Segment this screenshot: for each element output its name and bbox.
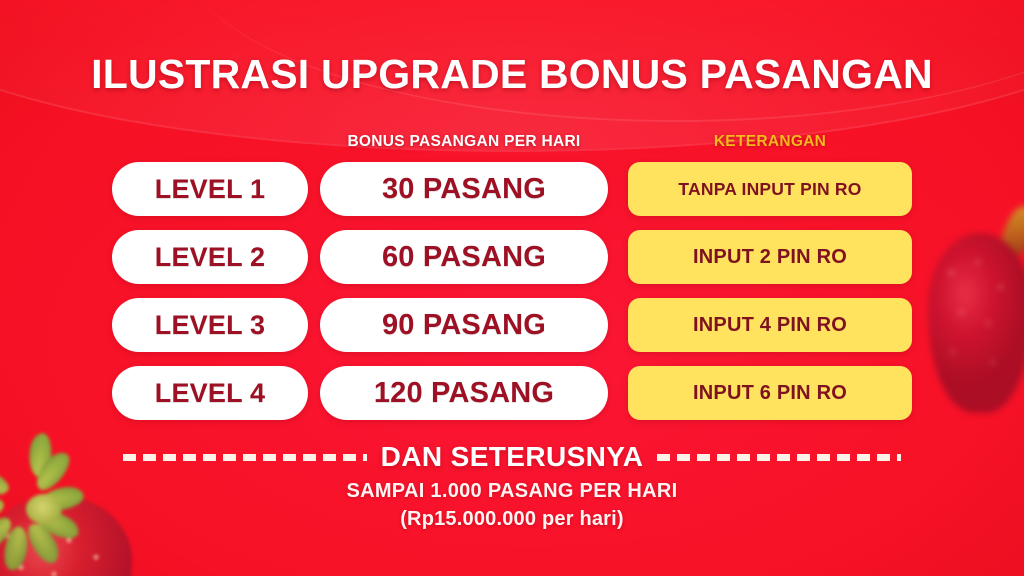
bonus-value: 90 PASANG <box>382 309 546 342</box>
continuation-line: DAN SETERUSNYA <box>0 440 1024 474</box>
level-pill: LEVEL 4 <box>112 366 308 420</box>
table-row: LEVEL 3 90 PASANG INPUT 4 PIN RO <box>112 298 912 352</box>
table-row: LEVEL 1 30 PASANG TANPA INPUT PIN RO <box>112 162 912 216</box>
bonus-pill: 90 PASANG <box>320 298 608 352</box>
bonus-value: 60 PASANG <box>382 241 546 274</box>
note-pill: TANPA INPUT PIN RO <box>628 162 912 216</box>
promo-slide: ILUSTRASI UPGRADE BONUS PASANGAN BONUS P… <box>0 0 1024 576</box>
dashed-rule-left-icon <box>123 454 367 461</box>
column-headers: BONUS PASANGAN PER HARI KETERANGAN <box>112 131 912 153</box>
amount-label: (Rp15.000.000 per hari) <box>0 508 1024 531</box>
column-header-keterangan: KETERANGAN <box>628 131 912 153</box>
continuation-label: DAN SETERUSNYA <box>381 440 644 474</box>
strawberry-right-icon <box>922 205 1024 420</box>
level-label: LEVEL 3 <box>155 310 265 341</box>
footer: DAN SETERUSNYA SAMPAI 1.000 PASANG PER H… <box>0 440 1024 531</box>
level-label: LEVEL 1 <box>155 174 265 205</box>
strawberry-right-seeds <box>928 233 1024 413</box>
note-value: TANPA INPUT PIN RO <box>678 179 861 200</box>
limit-label: SAMPAI 1.000 PASANG PER HARI <box>0 480 1024 503</box>
note-value: INPUT 2 PIN RO <box>693 246 847 269</box>
bonus-pill: 60 PASANG <box>320 230 608 284</box>
level-pill: LEVEL 2 <box>112 230 308 284</box>
bonus-value: 120 PASANG <box>374 377 554 410</box>
level-label: LEVEL 2 <box>155 242 265 273</box>
page-title: ILUSTRASI UPGRADE BONUS PASANGAN <box>0 54 1024 95</box>
level-pill: LEVEL 3 <box>112 298 308 352</box>
levels-table: LEVEL 1 30 PASANG TANPA INPUT PIN RO LEV… <box>112 162 912 420</box>
level-label: LEVEL 4 <box>155 378 265 409</box>
column-header-bonus: BONUS PASANGAN PER HARI <box>320 131 608 153</box>
note-value: INPUT 6 PIN RO <box>693 382 847 405</box>
bonus-pill: 120 PASANG <box>320 366 608 420</box>
note-value: INPUT 4 PIN RO <box>693 314 847 337</box>
bonus-pill: 30 PASANG <box>320 162 608 216</box>
note-pill: INPUT 4 PIN RO <box>628 298 912 352</box>
table-row: LEVEL 2 60 PASANG INPUT 2 PIN RO <box>112 230 912 284</box>
note-pill: INPUT 6 PIN RO <box>628 366 912 420</box>
note-pill: INPUT 2 PIN RO <box>628 230 912 284</box>
dashed-rule-right-icon <box>657 454 901 461</box>
bonus-value: 30 PASANG <box>382 173 546 206</box>
strawberry-right-body <box>928 233 1024 413</box>
level-pill: LEVEL 1 <box>112 162 308 216</box>
table-row: LEVEL 4 120 PASANG INPUT 6 PIN RO <box>112 366 912 420</box>
